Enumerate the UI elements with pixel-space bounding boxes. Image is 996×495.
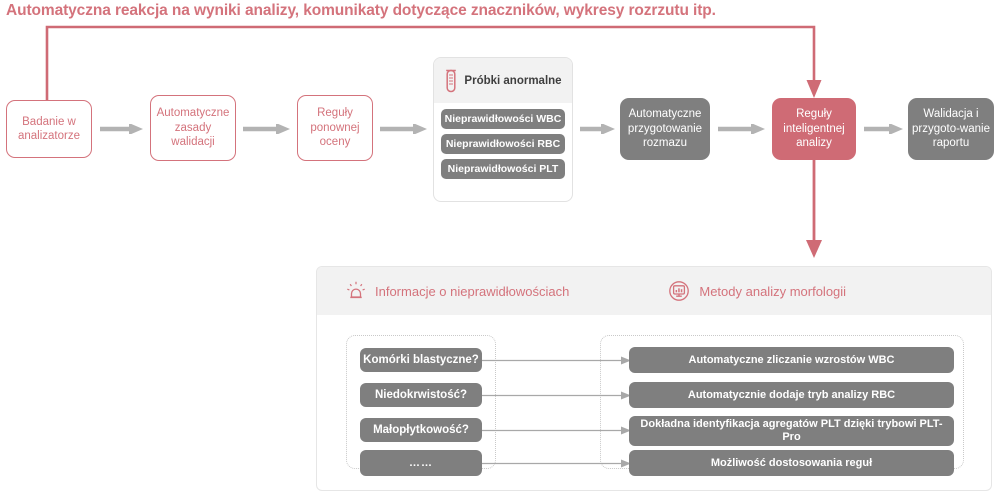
- question-item-blast-cells[interactable]: Komórki blastyczne?: [360, 348, 482, 372]
- abnormal-samples-list: Nieprawidłowości WBC Nieprawidłowości RB…: [434, 103, 572, 185]
- flow-node-validation-report[interactable]: Walidacja i przygoto-wanie raportu: [908, 98, 994, 160]
- monitor-chart-icon: [668, 280, 690, 302]
- abnormality-pill-rbc[interactable]: Nieprawidłowości RBC: [441, 134, 565, 154]
- siren-icon: [346, 281, 366, 301]
- page-title: Automatyczna reakcja na wyniki analizy, …: [6, 2, 716, 20]
- flow-node-auto-smear[interactable]: Automatyczne przygotowanie rozmazu: [620, 98, 710, 160]
- flow-node-analyzer-test[interactable]: Badanie w analizatorze: [6, 100, 92, 158]
- question-item-anemia[interactable]: Niedokrwistość?: [360, 383, 482, 407]
- answer-item-custom-rules[interactable]: Możliwość dostosowania reguł: [629, 450, 954, 476]
- answer-item-rbc-mode[interactable]: Automatycznie dodaje tryb analizy RBC: [629, 382, 954, 408]
- abnormality-pill-plt[interactable]: Nieprawidłowości PLT: [441, 159, 565, 179]
- flow-node-label: Automatyczne przygotowanie rozmazu: [623, 107, 707, 151]
- details-panel-header: Informacje o nieprawidłowościach Metody …: [317, 267, 991, 315]
- abnormality-info-label: Informacje o nieprawidłowościach: [375, 284, 569, 299]
- abnormal-samples-header: Próbki anormalne: [434, 58, 572, 103]
- flow-node-label: Automatyczne zasady walidacji: [154, 106, 232, 150]
- question-item-thrombocytopenia[interactable]: Małopłytkowość?: [360, 418, 482, 442]
- answer-item-wbc-counting[interactable]: Automatyczne zliczanie wzrostów WBC: [629, 347, 954, 373]
- question-item-more[interactable]: ……: [360, 450, 482, 476]
- morphology-methods-label: Metody analizy morfologii: [699, 284, 846, 299]
- flow-node-label: Badanie w analizatorze: [10, 115, 88, 144]
- flow-arrow-4: [580, 124, 616, 134]
- abnormality-pill-wbc[interactable]: Nieprawidłowości WBC: [441, 109, 565, 129]
- diagram-canvas: Automatyczna reakcja na wyniki analizy, …: [0, 0, 996, 495]
- flow-node-auto-validation[interactable]: Automatyczne zasady walidacji: [150, 95, 236, 161]
- answer-item-plt-pro[interactable]: Dokładna identyfikacja agregatów PLT dzi…: [629, 416, 954, 446]
- flow-arrow-5: [718, 124, 766, 134]
- flow-arrow-1: [100, 124, 144, 134]
- flow-node-rerun-rules[interactable]: Reguły ponownej oceny: [297, 95, 373, 161]
- flow-node-smart-rules[interactable]: Reguły inteligentnej analizy: [772, 98, 856, 160]
- details-panel-body: Komórki blastyczne? Niedokrwistość? Mało…: [317, 315, 991, 491]
- smart-rules-to-panel-arrow: [800, 160, 830, 260]
- flow-node-label: Walidacja i przygoto-wanie raportu: [911, 107, 991, 151]
- flow-arrow-6: [864, 124, 904, 134]
- flow-arrow-2: [243, 124, 291, 134]
- header-group-abnormality-info: Informacje o nieprawidłowościach: [346, 281, 569, 301]
- details-panel: Informacje o nieprawidłowościach Metody …: [316, 266, 992, 491]
- flow-node-label: Reguły ponownej oceny: [301, 106, 369, 150]
- flow-node-label: Reguły inteligentnej analizy: [775, 107, 853, 151]
- test-tube-icon: [444, 68, 458, 94]
- header-group-morphology-methods: Metody analizy morfologii: [668, 280, 846, 302]
- abnormal-samples-card: Próbki anormalne Nieprawidłowości WBC Ni…: [433, 57, 573, 202]
- abnormal-samples-title: Próbki anormalne: [464, 74, 561, 88]
- flow-arrow-3: [380, 124, 428, 134]
